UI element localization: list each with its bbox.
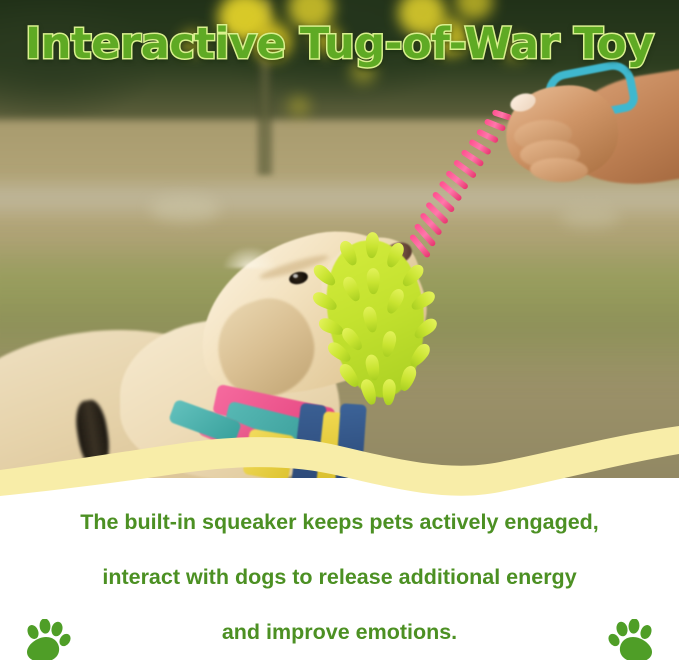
bokeh-highlight xyxy=(150,196,220,222)
bokeh-flower xyxy=(288,96,310,116)
bungee-cord xyxy=(396,108,516,248)
paw-print-icon xyxy=(24,619,72,660)
caption-line-3: and improve emotions. xyxy=(0,605,679,660)
wave-divider xyxy=(0,418,679,498)
paw-print-icon xyxy=(607,619,655,660)
chenille-noodle xyxy=(382,379,396,406)
caption-block: The built-in squeaker keeps pets activel… xyxy=(0,495,679,660)
dog-eye-highlight xyxy=(293,274,298,278)
bokeh-highlight xyxy=(560,206,620,228)
caption-line-1: The built-in squeaker keeps pets activel… xyxy=(0,495,679,550)
product-photo: Interactive Tug-of-War Toy Interactive T… xyxy=(0,0,679,478)
dog-whisker-tuft xyxy=(222,246,278,268)
product-banner: Interactive Tug-of-War Toy Interactive T… xyxy=(0,0,679,660)
caption-line-2: interact with dogs to release additional… xyxy=(0,550,679,605)
banner-title: Interactive Tug-of-War Toy xyxy=(0,19,679,69)
